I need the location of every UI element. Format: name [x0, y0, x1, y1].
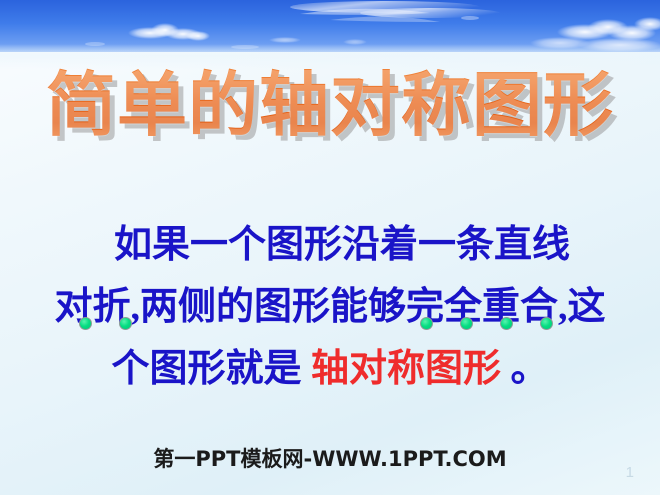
- paragraph-line-3: 个图形就是 轴对称图形 。: [0, 338, 660, 400]
- footer-watermark: 第一PPT模板网-WWW.1PPT.COM: [0, 443, 660, 473]
- definition-paragraph: 如果一个图形沿着一条直线 对折,两侧的图形能够完全重合,这 个图形就是 轴对称图…: [0, 214, 660, 400]
- paragraph-line-1: 如果一个图形沿着一条直线: [0, 214, 660, 276]
- sky-photo-banner: [0, 0, 660, 52]
- key-term-highlight: 轴对称图形: [311, 348, 501, 390]
- paragraph-line-2-text: 对折,两侧的图形能够完全重合,这: [54, 286, 605, 328]
- slide-title: 简单的轴对称图形 简单的轴对称图形: [46, 70, 614, 140]
- paragraph-line-3-suffix: 。: [511, 348, 549, 390]
- sky-graphic: [0, 0, 660, 52]
- paragraph-line-3-prefix: 个图形就是: [111, 348, 301, 390]
- page-number: 1: [626, 464, 634, 481]
- title-block: 简单的轴对称图形 简单的轴对称图形: [0, 70, 660, 140]
- slide-title-text: 简单的轴对称图形: [46, 64, 614, 146]
- slide-canvas: 简单的轴对称图形 简单的轴对称图形 如果一个图形沿着一条直线 对折,两侧的图形能…: [0, 0, 660, 495]
- paragraph-line-2: 对折,两侧的图形能够完全重合,这: [0, 276, 660, 338]
- footer-watermark-text: 第一PPT模板网-WWW.1PPT.COM: [153, 447, 506, 471]
